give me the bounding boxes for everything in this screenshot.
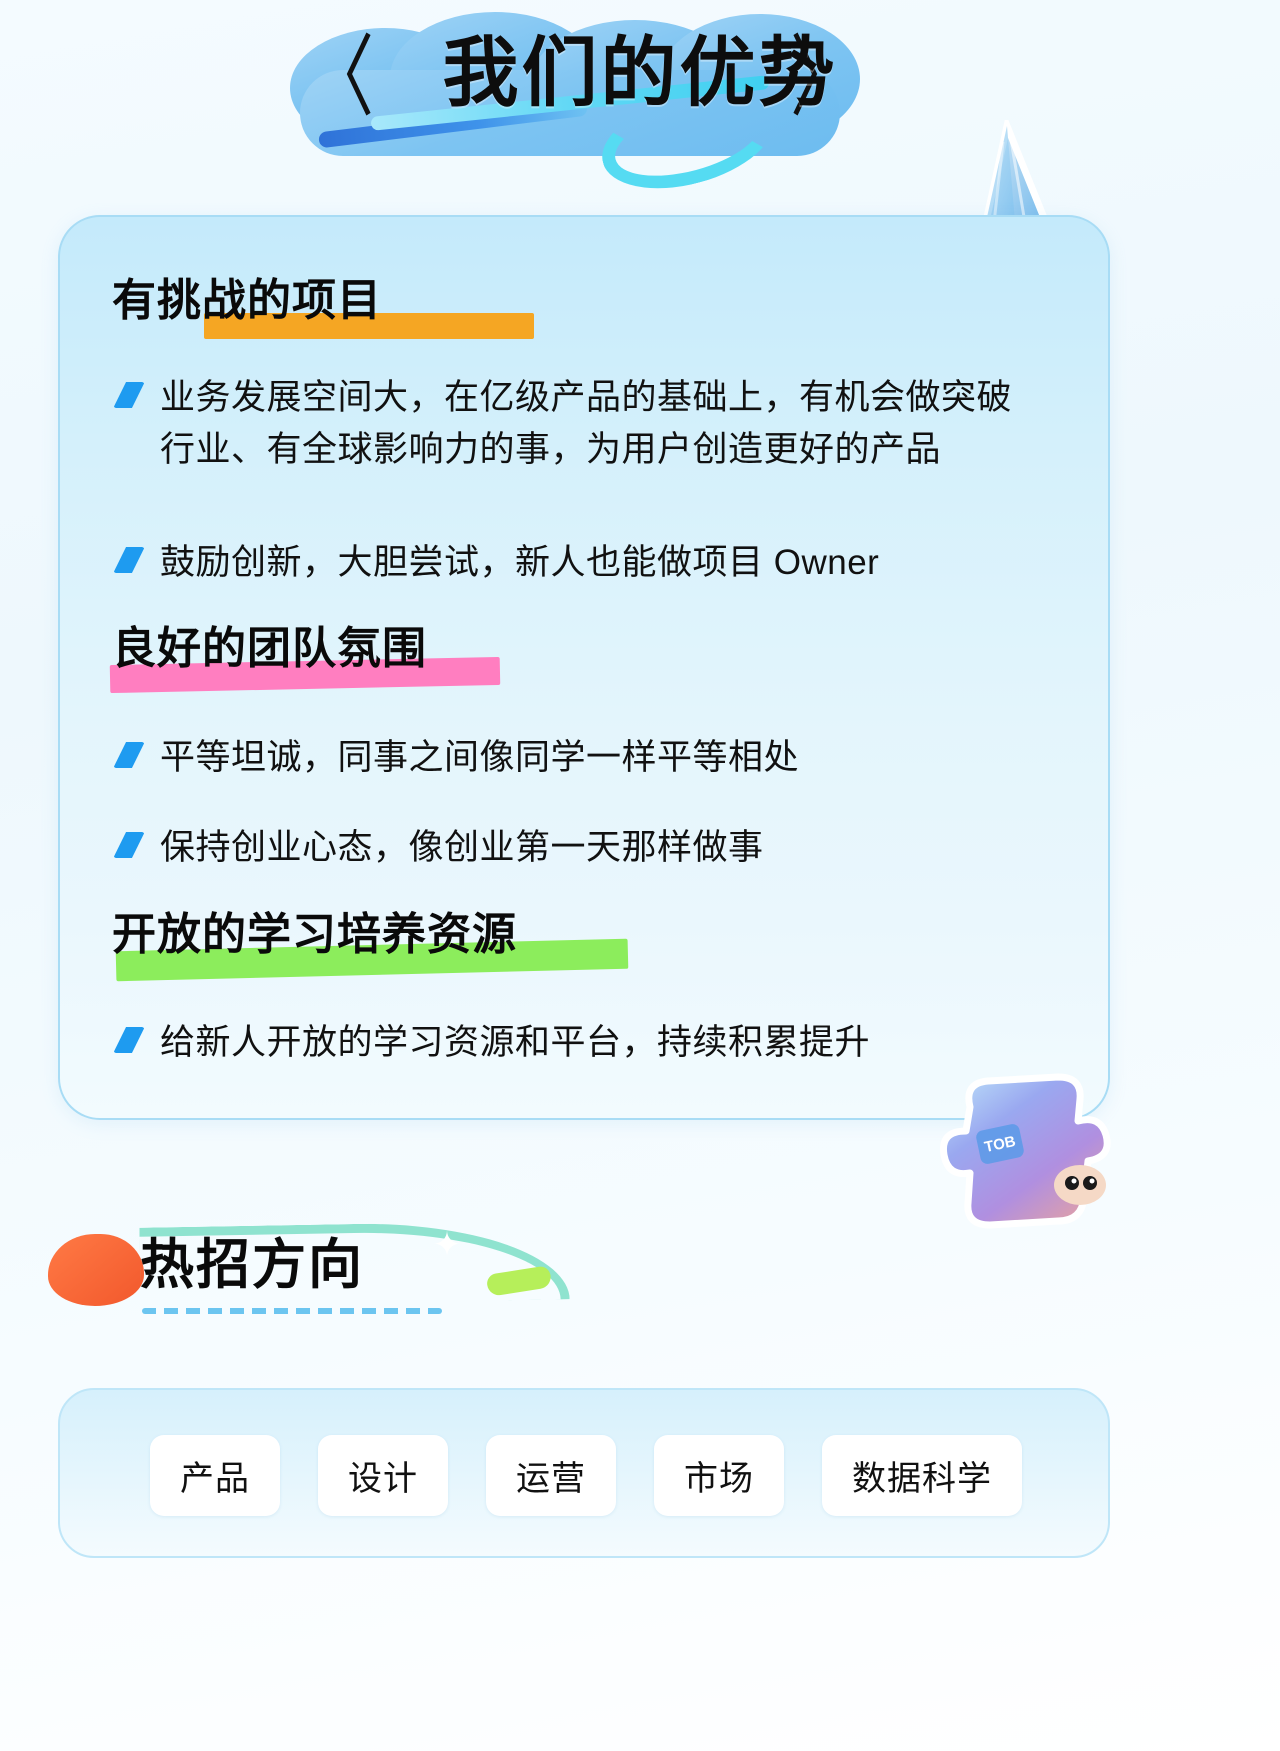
orange-blob-decor	[48, 1234, 144, 1306]
bullet-item: 保持创业心态，像创业第一天那样做事	[116, 822, 1046, 874]
section-heading-2: 良好的团队氛围	[112, 627, 427, 671]
diamond-bullet-icon	[113, 547, 145, 573]
bullet-item: 鼓励创新，大胆尝试，新人也能做项目 Owner	[116, 537, 1046, 589]
bullet-item: 平等坦诚，同事之间像同学一样平等相处	[116, 732, 1046, 784]
diamond-bullet-icon	[113, 832, 145, 858]
bullet-text: 鼓励创新，大胆尝试，新人也能做项目 Owner	[160, 537, 879, 589]
diamond-bullet-icon	[113, 1027, 145, 1053]
section-heading-1: 有挑战的项目	[112, 279, 382, 323]
bullet-text: 保持创业心态，像创业第一天那样做事	[160, 822, 764, 874]
job-category-tag[interactable]: 运营	[486, 1435, 616, 1516]
bullet-item: 业务发展空间大，在亿级产品的基础上，有机会做突破行业、有全球影响力的事，为用户创…	[116, 372, 1046, 476]
dashed-underline-decor	[142, 1308, 442, 1314]
advantages-card: 有挑战的项目 业务发展空间大，在亿级产品的基础上，有机会做突破行业、有全球影响力…	[58, 215, 1110, 1120]
job-category-tag[interactable]: 产品	[150, 1435, 280, 1516]
bullet-item: 给新人开放的学习资源和平台，持续积累提升	[116, 1017, 1046, 1069]
section-heading-3: 开放的学习培养资源	[112, 913, 517, 957]
bullet-text: 给新人开放的学习资源和平台，持续积累提升	[160, 1017, 870, 1069]
diamond-bullet-icon	[113, 742, 145, 768]
sparkle-icon: ✦	[430, 1228, 464, 1262]
job-categories-row: 产品 设计 运营 市场 数据科学	[60, 1390, 1112, 1560]
diamond-bullet-icon	[113, 382, 145, 408]
job-categories-card: 产品 设计 运营 市场 数据科学	[58, 1388, 1110, 1558]
job-category-tag[interactable]: 数据科学	[822, 1435, 1022, 1516]
hot-directions-title: 热招方向	[140, 1238, 364, 1292]
job-category-tag[interactable]: 市场	[654, 1435, 784, 1516]
job-category-tag[interactable]: 设计	[318, 1435, 448, 1516]
bullet-text: 业务发展空间大，在亿级产品的基础上，有机会做突破行业、有全球影响力的事，为用户创…	[160, 372, 1046, 476]
bullet-text: 平等坦诚，同事之间像同学一样平等相处	[160, 732, 799, 784]
hot-directions-header: ✦ 热招方向	[0, 1210, 1280, 1350]
page-title: 我们的优势	[0, 36, 1280, 112]
